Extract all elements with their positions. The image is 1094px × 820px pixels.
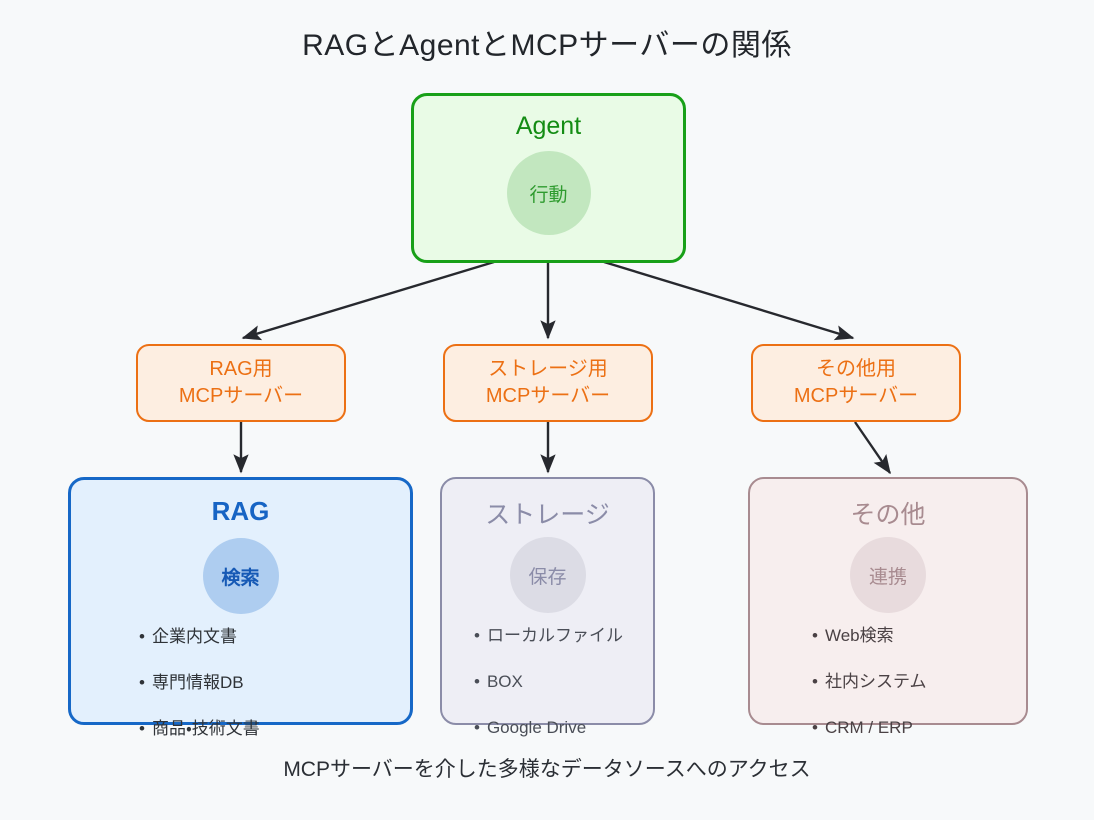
bullet-glyph: • [474,626,480,645]
node-mcp-server-rag[interactable]: RAG用 MCPサーバー [136,344,346,422]
bullet-glyph: • [812,672,818,691]
list-item-label: 社内システム [825,672,927,691]
node-source-other[interactable]: その他 連携 •Web検索 •社内システム •CRM / ERP [748,477,1028,725]
arrow-agent-to-mcp-other [604,262,853,338]
list-item-label: Google Drive [487,718,586,737]
diagram-canvas: RAGとAgentとMCPサーバーの関係 Agent 行動 RAG用 MCPサー… [0,0,1094,820]
list-item: •企業内文書 [139,628,478,645]
agent-title: Agent [414,112,683,141]
mcp-server-rag-line2: MCPサーバー [179,383,303,410]
bullet-glyph: • [139,673,145,692]
list-item: •CRM / ERP [812,719,1088,736]
source-rag-item-list: •企業内文書 •専門情報DB •商品・技術文書 [71,628,478,766]
bullet-glyph: • [474,718,480,737]
list-item-label: ローカルファイル [487,626,623,645]
mcp-server-other-line1: その他用 [816,356,896,383]
node-agent[interactable]: Agent 行動 [411,93,686,263]
mcp-server-rag-line1: RAG用 [209,356,272,383]
bullet-glyph: • [139,719,145,738]
list-item-label: 商品・技術文書 [152,719,260,738]
source-other-item-list: •Web検索 •社内システム •CRM / ERP [750,627,1088,765]
list-item-label: Web検索 [825,626,894,645]
list-item: •BOX [474,673,685,690]
arrow-agent-to-mcp-rag [243,262,494,338]
source-storage-title: ストレージ [442,495,653,531]
node-source-storage[interactable]: ストレージ 保存 •ローカルファイル •BOX •Google Drive [440,477,655,725]
list-item-label: 企業内文書 [152,627,237,646]
source-other-role-circle: 連携 [850,537,926,613]
source-other-title: その他 [750,495,1026,531]
bullet-glyph: • [474,672,480,691]
mcp-server-storage-line1: ストレージ用 [488,356,608,383]
source-rag-role-circle: 検索 [203,538,279,614]
source-rag-title: RAG [71,496,410,527]
page-title: RAGとAgentとMCPサーバーの関係 [0,20,1094,64]
list-item: •社内システム [812,673,1088,690]
node-mcp-server-storage[interactable]: ストレージ用 MCPサーバー [443,344,653,422]
mcp-server-other-line2: MCPサーバー [794,383,918,410]
list-item: •ローカルファイル [474,627,685,644]
list-item-label: CRM / ERP [825,718,913,737]
list-item: •専門情報DB [139,674,478,691]
mcp-server-storage-line2: MCPサーバー [486,383,610,410]
source-storage-role-circle: 保存 [510,537,586,613]
bullet-glyph: • [139,627,145,646]
bullet-glyph: • [812,718,818,737]
list-item: •Google Drive [474,719,685,736]
bullet-glyph: • [812,626,818,645]
source-storage-item-list: •ローカルファイル •BOX •Google Drive [442,627,685,765]
list-item: •商品・技術文書 [139,720,478,737]
list-item-label: BOX [487,672,523,691]
list-item-label: 専門情報DB [152,673,244,692]
diagram-caption: MCPサーバーを介した多様なデータソースへのアクセス [0,753,1094,783]
list-item: •Web検索 [812,627,1088,644]
agent-role-circle: 行動 [507,151,591,235]
node-source-rag[interactable]: RAG 検索 •企業内文書 •専門情報DB •商品・技術文書 [68,477,413,725]
arrow-mcp-other-to-other [855,422,890,473]
node-mcp-server-other[interactable]: その他用 MCPサーバー [751,344,961,422]
